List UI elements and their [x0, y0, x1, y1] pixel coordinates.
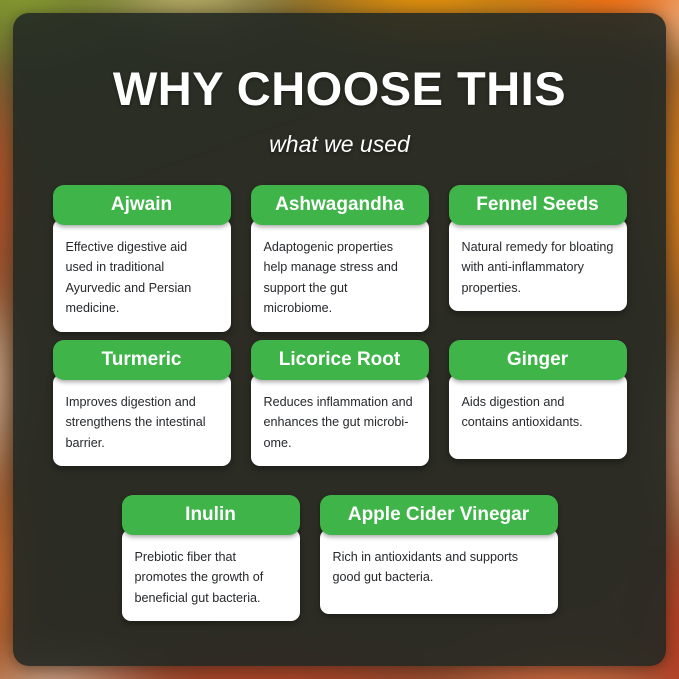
ingredient-description-licorice-root: Reduces inflammation and enhances the gu…: [251, 374, 429, 466]
ingredient-description-ginger: Aids digestion and contains antioxidants…: [449, 374, 627, 459]
page-title: WHY CHOOSE THIS: [13, 65, 666, 112]
ingredient-name-ashwagandha: Ashwagandha: [251, 185, 429, 225]
ingredient-name-turmeric: Turmeric: [53, 340, 231, 380]
ingredient-card-inulin[interactable]: Inulin Prebiotic fiber that promotes the…: [122, 495, 300, 621]
ingredient-row-3: Inulin Prebiotic fiber that promotes the…: [13, 495, 666, 621]
ingredient-row-1: Ajwain Effective digestive aid used in t…: [13, 185, 666, 332]
ingredient-name-licorice-root: Licorice Root: [251, 340, 429, 380]
ingredient-card-fennel-seeds[interactable]: Fennel Seeds Natural remedy for bloating…: [449, 185, 627, 332]
ingredient-description-ajwain: Effective digestive aid used in traditio…: [53, 219, 231, 332]
ingredient-row-2: Turmeric Improves digestion and strength…: [13, 340, 666, 466]
ingredient-description-apple-cider-vinegar: Rich in antioxidants and supports good g…: [320, 529, 558, 614]
ingredient-name-ginger: Ginger: [449, 340, 627, 380]
ingredient-description-turmeric: Improves digestion and strengthens the i…: [53, 374, 231, 466]
ingredient-card-ginger[interactable]: Ginger Aids digestion and contains antio…: [449, 340, 627, 466]
ingredient-name-apple-cider-vinegar: Apple Cider Vinegar: [320, 495, 558, 535]
ingredient-name-ajwain: Ajwain: [53, 185, 231, 225]
page-subtitle: what we used: [13, 131, 666, 158]
ingredient-card-turmeric[interactable]: Turmeric Improves digestion and strength…: [53, 340, 231, 466]
ingredient-name-fennel-seeds: Fennel Seeds: [449, 185, 627, 225]
ingredient-description-fennel-seeds: Natural remedy for bloating with anti-in…: [449, 219, 627, 311]
ingredient-card-apple-cider-vinegar[interactable]: Apple Cider Vinegar Rich in antioxidants…: [320, 495, 558, 621]
ingredient-card-licorice-root[interactable]: Licorice Root Reduces inflammation and e…: [251, 340, 429, 466]
ingredient-name-inulin: Inulin: [122, 495, 300, 535]
ingredient-description-inulin: Prebiotic fiber that promotes the growth…: [122, 529, 300, 621]
ingredient-description-ashwagandha: Adaptogenic properties help manage stres…: [251, 219, 429, 332]
content-panel: WHY CHOOSE THIS what we used Ajwain Effe…: [13, 13, 666, 666]
ingredient-card-ashwagandha[interactable]: Ashwagandha Adaptogenic properties help …: [251, 185, 429, 332]
ingredient-card-ajwain[interactable]: Ajwain Effective digestive aid used in t…: [53, 185, 231, 332]
